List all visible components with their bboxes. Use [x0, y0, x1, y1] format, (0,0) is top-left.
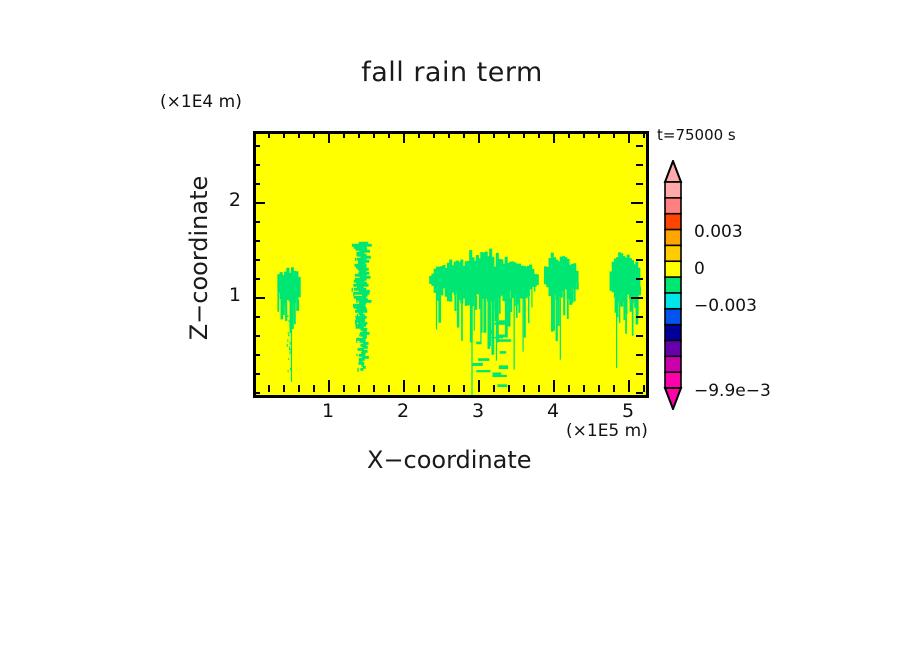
colorbar-band: [665, 182, 681, 198]
y-tick: [253, 202, 265, 204]
colorbar-tick-label: −0.003: [694, 296, 757, 316]
colorbar-band: [665, 277, 681, 293]
y-tick: [253, 240, 260, 242]
y-tick: [253, 335, 260, 337]
x-tick: [538, 131, 540, 138]
x-tick: [448, 385, 450, 392]
colorbar-tick-label: 0: [694, 259, 705, 279]
plot-area: [253, 131, 649, 398]
colorbar-band: [665, 372, 681, 388]
x-tick: [508, 131, 510, 138]
colorbar: [661, 160, 685, 410]
y-tick: [253, 278, 260, 280]
y-axis-title: Z−coordinate: [186, 158, 212, 358]
y-tick: [636, 354, 643, 356]
x-tick: [643, 385, 645, 392]
colorbar-band: [665, 309, 681, 325]
x-tick: [358, 385, 360, 392]
x-tick: [298, 131, 300, 138]
x-tick: [313, 385, 315, 392]
x-tick: [418, 131, 420, 138]
y-axis-unit-label: (×1E4 m): [160, 92, 242, 112]
x-tick: [268, 131, 270, 138]
colorbar-tick-label: 0.003: [694, 222, 743, 242]
x-tick: [463, 385, 465, 392]
x-tick: [628, 380, 630, 392]
colorbar-band: [665, 325, 681, 341]
x-tick: [523, 385, 525, 392]
colorbar-tick-label: −9.9e−3: [694, 381, 771, 401]
colorbar-bottom-arrow: [665, 388, 681, 409]
x-tick: [253, 385, 255, 392]
y-tick: [636, 164, 643, 166]
x-tick: [523, 131, 525, 138]
x-tick: [403, 131, 405, 143]
x-tick: [538, 385, 540, 392]
x-tick: [313, 131, 315, 138]
page-title: fall rain term: [0, 57, 904, 88]
x-tick: [508, 385, 510, 392]
x-tick-label: 5: [608, 400, 648, 422]
colorbar-top-arrow: [665, 161, 681, 182]
y-tick: [636, 259, 643, 261]
x-axis-title: X−coordinate: [0, 446, 904, 474]
x-tick: [568, 131, 570, 138]
x-tick: [433, 385, 435, 392]
y-tick: [631, 297, 643, 299]
x-tick: [328, 380, 330, 392]
x-tick: [628, 131, 630, 143]
y-tick: [636, 278, 643, 280]
y-tick: [631, 202, 643, 204]
x-tick: [298, 385, 300, 392]
y-tick: [253, 259, 260, 261]
y-tick: [636, 221, 643, 223]
y-tick: [253, 221, 260, 223]
x-tick: [643, 131, 645, 138]
x-tick-label: 1: [308, 400, 348, 422]
colorbar-band: [665, 340, 681, 356]
colorbar-band: [665, 293, 681, 309]
colorbar-gradient: [661, 160, 685, 410]
x-tick: [253, 131, 255, 138]
x-tick: [583, 131, 585, 138]
contour-field: [256, 134, 646, 395]
y-tick: [636, 240, 643, 242]
x-tick: [463, 131, 465, 138]
x-tick: [343, 385, 345, 392]
colorbar-band: [665, 356, 681, 372]
colorbar-band: [665, 261, 681, 277]
x-axis-unit-label: (×1E5 m): [566, 421, 648, 441]
x-tick: [388, 131, 390, 138]
y-tick: [636, 183, 643, 185]
x-tick: [448, 131, 450, 138]
x-tick-label: 3: [458, 400, 498, 422]
x-tick: [283, 385, 285, 392]
x-tick: [613, 131, 615, 138]
x-tick: [598, 385, 600, 392]
y-axis-title-text: Z−coordinate: [185, 176, 213, 341]
x-tick: [478, 131, 480, 143]
x-tick: [553, 380, 555, 392]
x-tick: [283, 131, 285, 138]
y-tick: [636, 316, 643, 318]
y-tick: [253, 164, 260, 166]
colorbar-band: [665, 245, 681, 261]
x-tick: [493, 131, 495, 138]
x-tick: [553, 131, 555, 143]
y-tick: [253, 316, 260, 318]
y-tick: [253, 183, 260, 185]
y-tick: [253, 354, 260, 356]
y-tick: [253, 373, 260, 375]
timestamp-label: t=75000 s: [657, 126, 736, 144]
x-tick: [568, 385, 570, 392]
y-tick: [253, 145, 260, 147]
y-tick: [253, 392, 260, 394]
colorbar-band: [665, 198, 681, 214]
colorbar-band: [665, 214, 681, 230]
x-tick: [373, 131, 375, 138]
x-tick: [328, 131, 330, 143]
y-tick: [636, 392, 643, 394]
x-tick: [403, 380, 405, 392]
y-tick: [253, 297, 265, 299]
y-tick: [636, 373, 643, 375]
x-tick: [583, 385, 585, 392]
x-tick-label: 4: [533, 400, 573, 422]
colorbar-band: [665, 230, 681, 246]
x-tick: [373, 385, 375, 392]
x-tick: [598, 131, 600, 138]
x-tick: [358, 131, 360, 138]
x-tick: [418, 385, 420, 392]
x-tick: [613, 385, 615, 392]
x-tick: [493, 385, 495, 392]
x-tick-label: 2: [383, 400, 423, 422]
x-tick: [478, 380, 480, 392]
x-tick: [388, 385, 390, 392]
x-tick: [343, 131, 345, 138]
x-tick: [268, 385, 270, 392]
y-tick: [636, 145, 643, 147]
y-tick: [636, 335, 643, 337]
x-tick: [433, 131, 435, 138]
